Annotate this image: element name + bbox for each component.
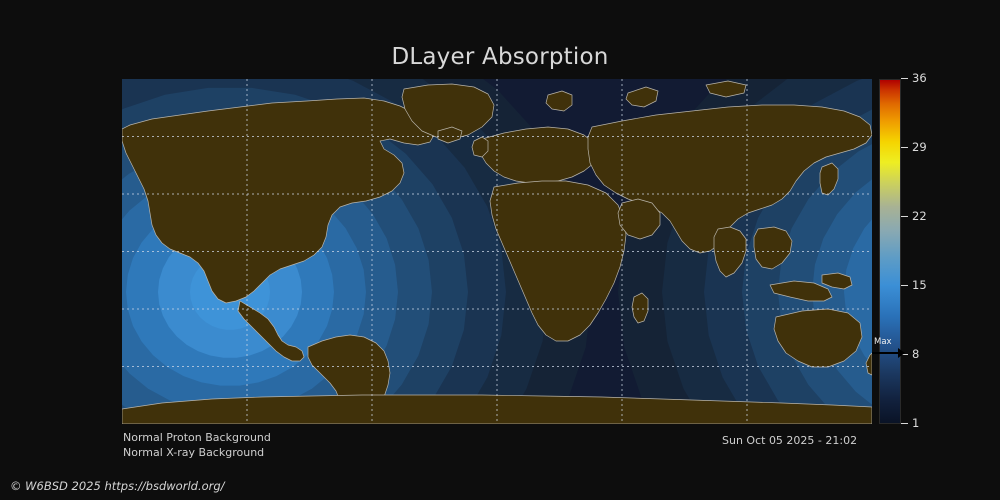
map-canvas xyxy=(122,79,872,424)
tick-label: 29 xyxy=(912,140,927,154)
xray-background-note: Normal X-ray Background xyxy=(123,445,264,460)
tick-dash xyxy=(901,285,908,286)
tick-dash xyxy=(901,147,908,148)
tick-label: 8 xyxy=(912,347,919,361)
colorbar-ticks: 1815222936 xyxy=(901,79,941,424)
page-title: DLayer Absorption xyxy=(0,44,1000,70)
app-root: DLayer Absorption xyxy=(0,0,1000,500)
colorbar[interactable] xyxy=(879,79,901,424)
world-map[interactable] xyxy=(122,79,872,424)
tick-label: 36 xyxy=(912,71,927,85)
tick-dash xyxy=(901,423,908,424)
tick-dash xyxy=(901,354,908,355)
tick-dash xyxy=(901,216,908,217)
colorbar-gradient xyxy=(879,79,901,424)
tick-label: 22 xyxy=(912,209,927,223)
timestamp: Sun Oct 05 2025 - 21:02 xyxy=(722,434,857,447)
tick-label: 15 xyxy=(912,278,927,292)
tick-label: 1 xyxy=(912,416,919,430)
tick-dash xyxy=(901,78,908,79)
copyright-notice: © W6BSD 2025 https://bsdworld.org/ xyxy=(10,479,225,493)
proton-background-note: Normal Proton Background xyxy=(123,430,271,445)
